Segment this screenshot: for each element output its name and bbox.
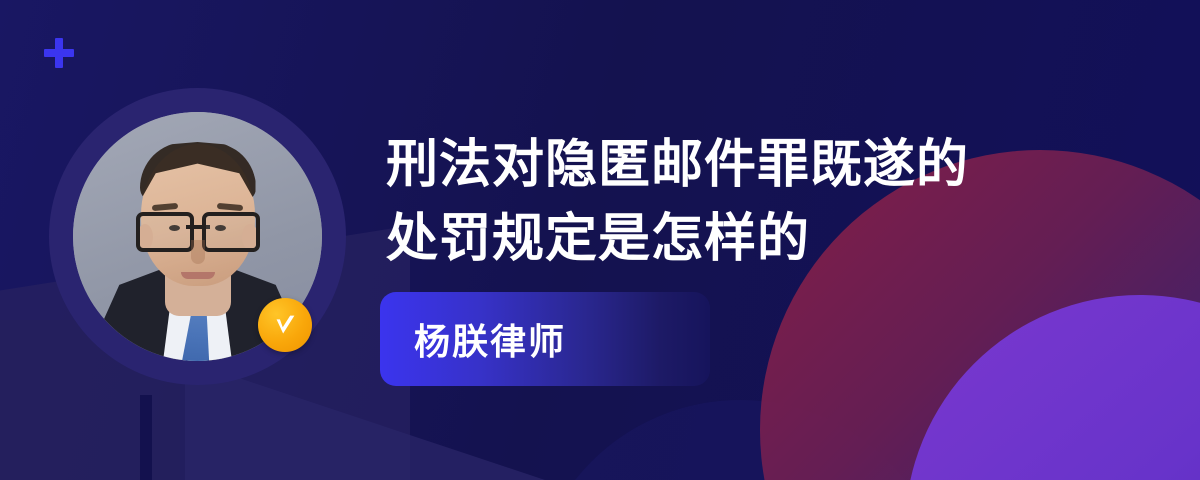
lawyer-article-banner: 刑法对隐匿邮件罪既遂的 处罚规定是怎样的 杨朕律师: [0, 0, 1200, 480]
verified-check-icon: [258, 298, 312, 352]
avatar-nose: [191, 240, 205, 264]
page-title: 刑法对隐匿邮件罪既遂的 处罚规定是怎样的: [386, 128, 1126, 276]
avatar-mouth: [181, 272, 215, 279]
eyeglasses-lens-right: [202, 212, 260, 252]
page-title-line-1: 刑法对隐匿邮件罪既遂的: [386, 128, 1126, 202]
lawyer-name-badge[interactable]: 杨朕律师: [380, 292, 710, 386]
page-title-line-2: 处罚规定是怎样的: [386, 202, 1126, 276]
plus-icon: [44, 38, 74, 68]
lawyer-name-label: 杨朕律师: [414, 313, 566, 365]
plus-icon-bar-vertical: [55, 38, 63, 68]
background-vertical-band: [140, 395, 152, 480]
eyeglasses-lens-left: [136, 212, 194, 252]
